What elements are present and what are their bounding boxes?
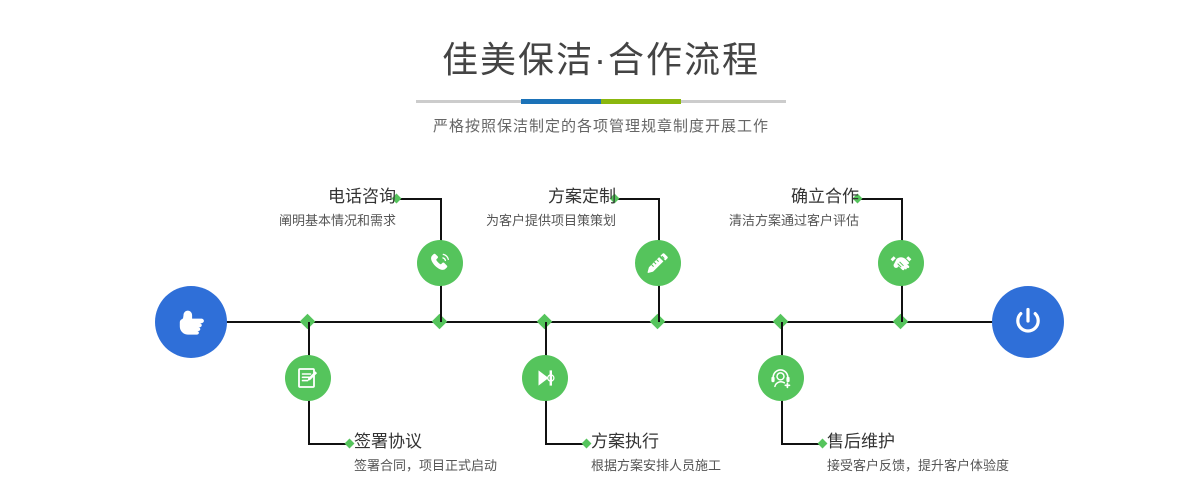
document-sign-icon (295, 365, 321, 391)
divider-segment-green (601, 99, 681, 104)
step-desc-4: 根据方案安排人员施工 (591, 457, 851, 475)
step-label-5: 确立合作 清洁方案通过客户评估 (653, 186, 859, 230)
divider-segment-blue (521, 99, 601, 104)
connector-lead-step-5 (859, 198, 902, 200)
pencil-ruler-icon (645, 250, 671, 276)
step-title-5: 确立合作 (653, 186, 859, 207)
phone-call-icon (427, 250, 453, 276)
step-icon-sign-agreement[interactable] (285, 355, 331, 401)
step-icon-plan-execution[interactable] (522, 355, 568, 401)
handshake-icon (888, 250, 914, 276)
timeline-start-node[interactable] (155, 286, 227, 358)
play-skip-icon (532, 365, 558, 391)
page-subtitle: 严格按照保洁制定的各项管理规章制度开展工作 (0, 115, 1202, 136)
step-title-3: 方案定制 (410, 186, 616, 207)
step-title-2: 签署协议 (354, 431, 614, 452)
step-title-1: 电话咨询 (190, 186, 396, 207)
step-label-1: 电话咨询 阐明基本情况和需求 (190, 186, 396, 230)
support-agent-add-icon (768, 365, 794, 391)
timeline-end-node[interactable] (992, 286, 1064, 358)
title-divider (416, 100, 786, 103)
page-title: 佳美保洁·合作流程 (0, 38, 1202, 81)
step-icon-after-sales[interactable] (758, 355, 804, 401)
step-label-2: 签署协议 签署合同，项目正式启动 (354, 431, 614, 475)
step-icon-plan-custom[interactable] (635, 240, 681, 286)
step-label-4: 方案执行 根据方案安排人员施工 (591, 431, 851, 475)
step-desc-5: 清洁方案通过客户评估 (653, 212, 859, 230)
step-title-4: 方案执行 (591, 431, 851, 452)
step-icon-establish-cooperation[interactable] (878, 240, 924, 286)
step-title-6: 售后维护 (827, 431, 1107, 452)
connector-dot-step-2 (345, 439, 355, 449)
step-label-6: 售后维护 接受客户反馈，提升客户体验度 (827, 431, 1107, 475)
step-label-3: 方案定制 为客户提供项目策策划 (410, 186, 616, 230)
pointing-hand-icon (171, 302, 211, 342)
step-desc-6: 接受客户反馈，提升客户体验度 (827, 457, 1107, 475)
step-desc-3: 为客户提供项目策策划 (410, 212, 616, 230)
step-icon-phone-consult[interactable] (417, 240, 463, 286)
power-icon (1008, 302, 1048, 342)
flowchart-canvas: 佳美保洁·合作流程 严格按照保洁制定的各项管理规章制度开展工作 电话咨询 (0, 0, 1202, 502)
page-header: 佳美保洁·合作流程 严格按照保洁制定的各项管理规章制度开展工作 (0, 0, 1202, 136)
step-desc-2: 签署合同，项目正式启动 (354, 457, 614, 475)
step-desc-1: 阐明基本情况和需求 (190, 212, 396, 230)
